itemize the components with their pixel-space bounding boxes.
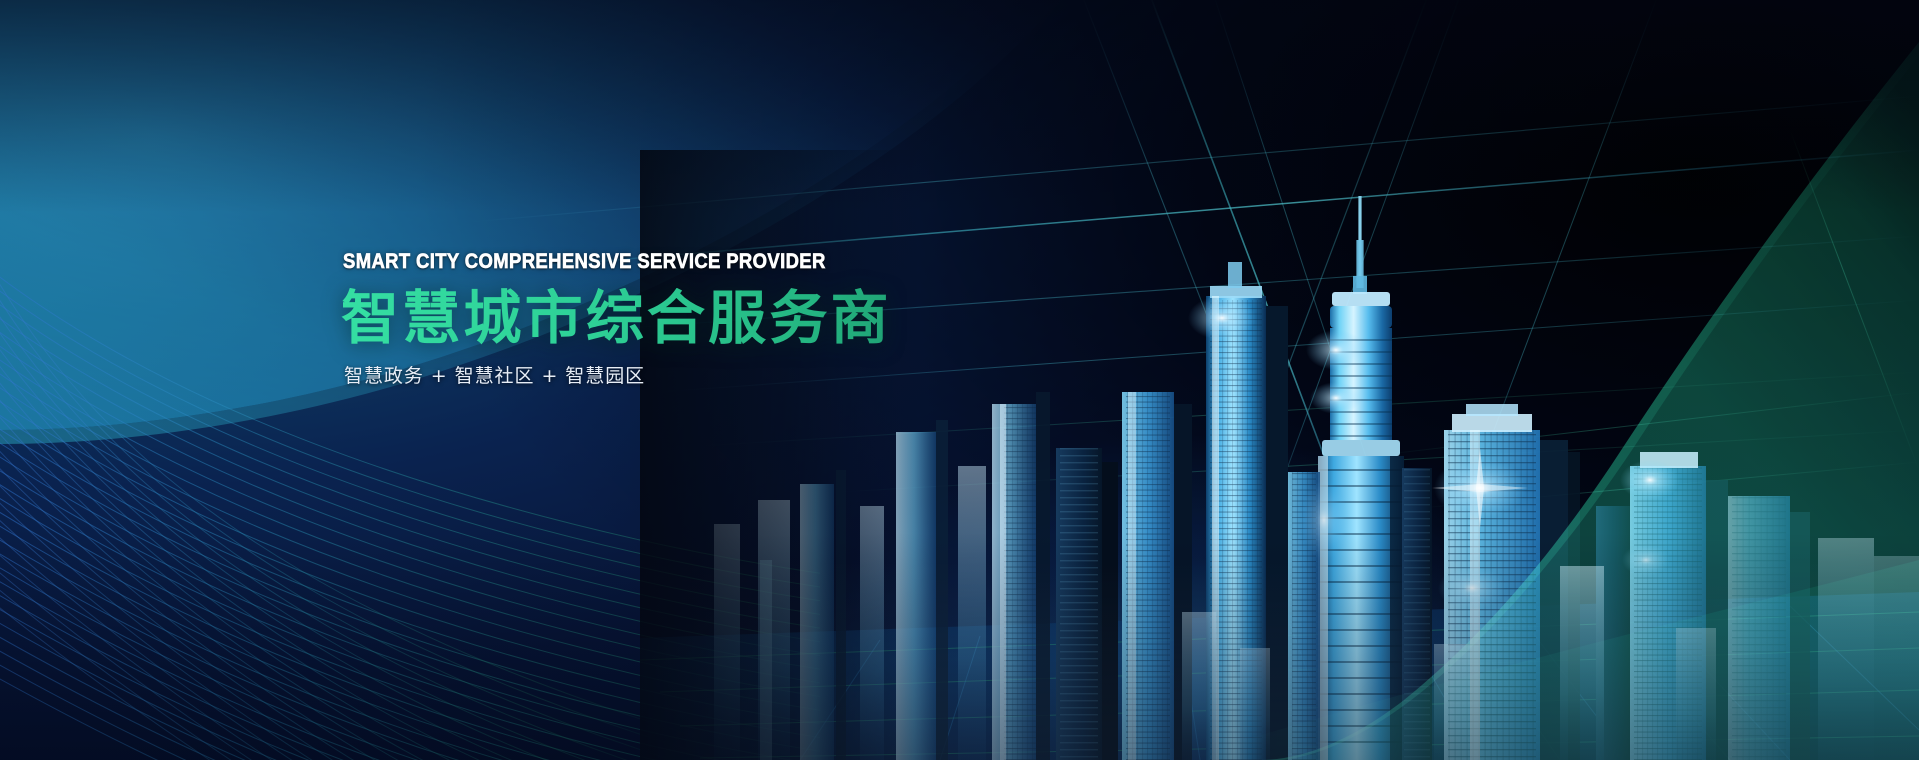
headline-copy-block: SMART CITY COMPREHENSIVE SERVICE PROVIDE… xyxy=(341,250,1101,388)
subtitle-services: 智慧政务 + 智慧社区 + 智慧园区 xyxy=(344,361,1101,388)
hero-banner: SMART CITY COMPREHENSIVE SERVICE PROVIDE… xyxy=(0,0,1919,760)
eyebrow-tagline: SMART CITY COMPREHENSIVE SERVICE PROVIDE… xyxy=(343,250,1010,274)
page-title: 智慧城市综合服务商 xyxy=(341,288,1101,349)
